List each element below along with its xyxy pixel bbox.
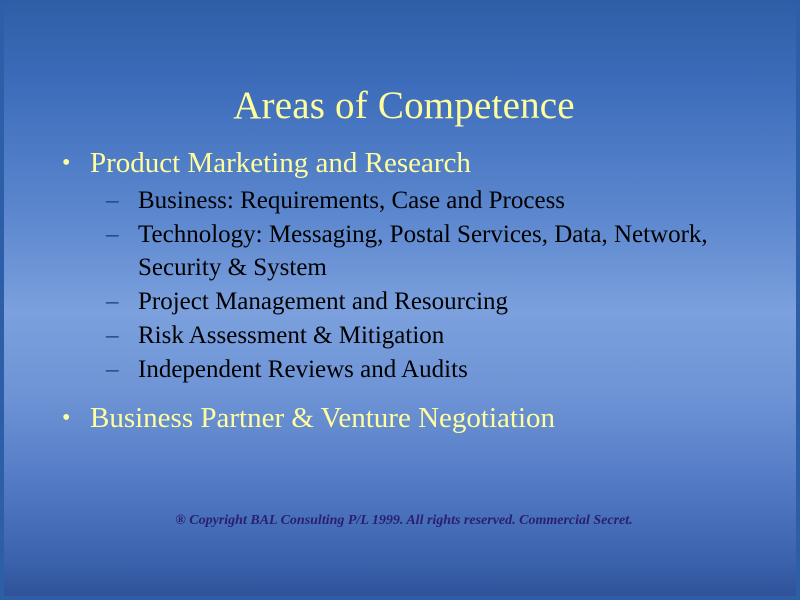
bullet-dot-icon: • bbox=[62, 399, 70, 437]
bullet-level2-project-management: – Project Management and Resourcing bbox=[48, 285, 768, 318]
copyright-footer: ® Copyright BAL Consulting P/L 1999. All… bbox=[4, 512, 800, 530]
dash-marker-icon: – bbox=[106, 218, 119, 251]
bullet-level1-product-marketing: • Product Marketing and Research bbox=[48, 144, 768, 182]
bullet-level2-business: – Business: Requirements, Case and Proce… bbox=[48, 184, 768, 217]
bullet-level2-text: Independent Reviews and Audits bbox=[138, 356, 468, 383]
bullet-level1-text: Product Marketing and Research bbox=[90, 147, 471, 179]
bullet-level2-text: Risk Assessment & Mitigation bbox=[138, 322, 444, 349]
copyright-text: Copyright BAL Consulting P/L 1999. All r… bbox=[189, 513, 632, 528]
slide-body: • Product Marketing and Research – Busin… bbox=[48, 144, 768, 439]
bullet-level2-risk-assessment: – Risk Assessment & Mitigation bbox=[48, 319, 768, 352]
dash-marker-icon: – bbox=[106, 319, 119, 352]
bullet-level2-text: Business: Requirements, Case and Process bbox=[138, 187, 565, 214]
bullet-level2-technology: – Technology: Messaging, Postal Services… bbox=[48, 218, 768, 284]
bullet-dot-icon: • bbox=[62, 144, 70, 182]
registered-mark-icon: ® bbox=[175, 513, 185, 528]
bullet-level2-independent-reviews: – Independent Reviews and Audits bbox=[48, 353, 768, 386]
dash-marker-icon: – bbox=[106, 184, 119, 217]
bullet-level1-text: Business Partner & Venture Negotiation bbox=[90, 402, 555, 434]
bullet-level2-text: Technology: Messaging, Postal Services, … bbox=[138, 221, 708, 281]
slide: Areas of Competence • Product Marketing … bbox=[0, 0, 800, 600]
bullet-level1-business-partner: • Business Partner & Venture Negotiation bbox=[48, 399, 768, 437]
bullet-level2-text: Project Management and Resourcing bbox=[138, 288, 508, 315]
page-title: Areas of Competence bbox=[4, 84, 800, 128]
dash-marker-icon: – bbox=[106, 353, 119, 386]
dash-marker-icon: – bbox=[106, 285, 119, 318]
